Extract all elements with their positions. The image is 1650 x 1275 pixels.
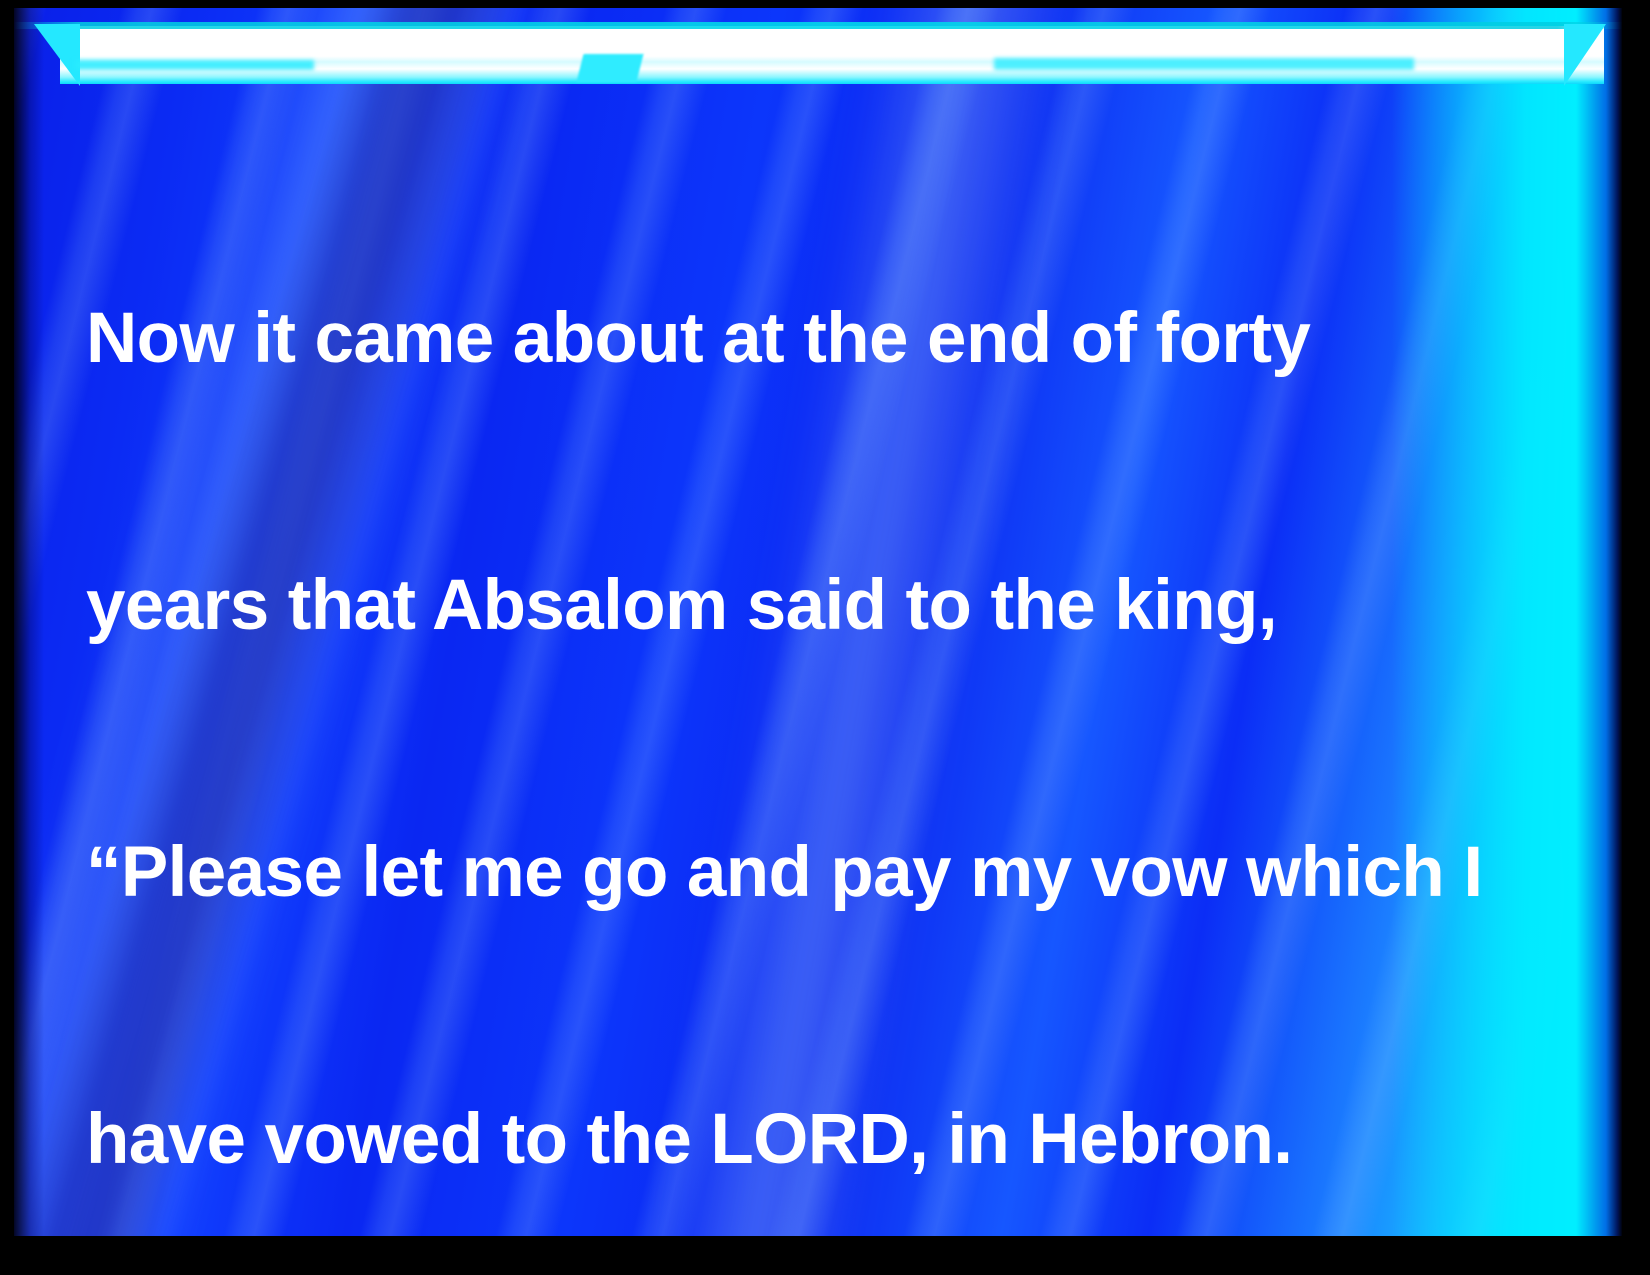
banner-center-nub	[577, 54, 644, 82]
banner-streak-left	[74, 60, 314, 70]
slide-root: Now it came about at the end of forty ye…	[0, 0, 1650, 1275]
banner-left-notch	[34, 24, 80, 86]
banner-top-cyan-rule	[14, 22, 1622, 29]
banner-fill	[60, 26, 1604, 84]
verse-line-3: “Please let me go and pay my vow which I	[86, 828, 1526, 917]
verse-line-1: Now it came about at the end of forty	[86, 294, 1526, 383]
verse-text-block: Now it came about at the end of forty ye…	[86, 116, 1526, 1236]
background-left-edge-shadow	[14, 8, 44, 1236]
banner-right-notch	[1564, 24, 1606, 86]
top-banner	[14, 8, 1622, 86]
verse-line-4: have vowed to the LORD, in Hebron.	[86, 1095, 1526, 1184]
slide-canvas: Now it came about at the end of forty ye…	[14, 8, 1622, 1236]
verse-line-2: years that Absalom said to the king,	[86, 561, 1526, 650]
banner-streak-right	[994, 58, 1414, 70]
